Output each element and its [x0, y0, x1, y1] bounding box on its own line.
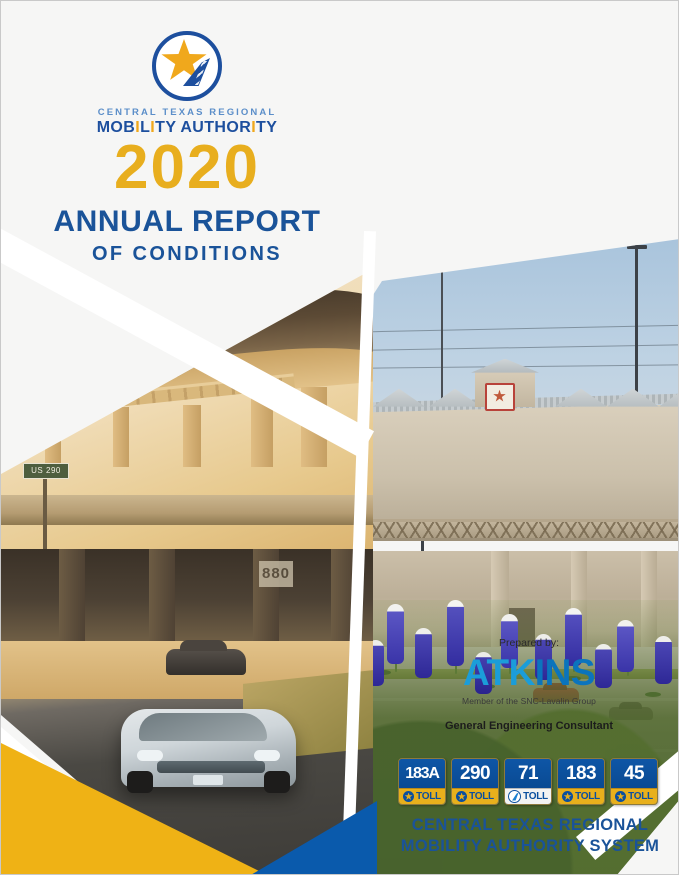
- system-name-line-2: MOBILITY AUTHORITY SYSTEM: [389, 836, 671, 857]
- shield-number: 45: [611, 759, 657, 788]
- headlight: [137, 750, 163, 761]
- shield-toll-band: TOLL: [452, 788, 498, 804]
- plaza-emblem-sign: [485, 383, 515, 411]
- silver-sedan: [121, 709, 296, 787]
- license-plate: [193, 775, 223, 785]
- prepared-by-label: Prepared by:: [389, 637, 669, 649]
- bridge-truss: [373, 519, 679, 541]
- toll-shield-71: 71 TOLL: [504, 758, 552, 805]
- grille: [157, 761, 265, 773]
- atkins-affiliation: Member of the SNC-Lavalin Group: [389, 696, 669, 706]
- toll-plaza-building: [373, 405, 679, 526]
- lower-roadway-deck: [1, 495, 373, 525]
- shield-toll-band: TOLL: [505, 788, 551, 804]
- us-290-road-sign: US 290: [23, 463, 69, 479]
- report-cover-page: US 290 880: [0, 0, 679, 875]
- shield-number: 183: [558, 759, 604, 788]
- shield-toll-band: TOLL: [611, 788, 657, 804]
- star-icon: [456, 791, 467, 802]
- star-icon: [615, 791, 626, 802]
- road-icon: [508, 790, 521, 803]
- toll-label: TOLL: [628, 791, 653, 802]
- utility-pole: [441, 252, 443, 405]
- dark-car: [166, 649, 246, 675]
- atkins-logo: ATKINS: [389, 654, 669, 693]
- prepared-by-block: Prepared by: ATKINS Member of the SNC-La…: [389, 637, 669, 732]
- organization-logo: CENTRAL TEXAS REGIONAL MOBILITY AUTHORIT…: [1, 31, 373, 137]
- star-icon: [562, 791, 573, 802]
- page-title: ANNUAL REPORT: [1, 207, 373, 237]
- headlight: [254, 750, 280, 761]
- toll-label: TOLL: [469, 791, 494, 802]
- consultant-role: General Engineering Consultant: [389, 720, 669, 732]
- shield-number: 183A: [399, 759, 445, 788]
- toll-label: TOLL: [416, 791, 441, 802]
- shield-toll-band: TOLL: [558, 788, 604, 804]
- toll-shield-row: 183A TOLL 290 TOLL 71 TOLL 183 T: [397, 758, 659, 805]
- windshield: [139, 713, 267, 741]
- toll-label: TOLL: [575, 791, 600, 802]
- report-year: 2020: [1, 137, 373, 199]
- system-name-block: CENTRAL TEXAS REGIONAL MOBILITY AUTHORIT…: [389, 815, 671, 856]
- system-name-line-1: CENTRAL TEXAS REGIONAL: [389, 815, 671, 836]
- page-subtitle: OF CONDITIONS: [1, 244, 373, 264]
- cover-title-block: 2020 ANNUAL REPORT OF CONDITIONS: [1, 137, 373, 264]
- shield-number: 290: [452, 759, 498, 788]
- toll-shield-183: 183 TOLL: [557, 758, 605, 805]
- toll-shield-45: 45 TOLL: [610, 758, 658, 805]
- toll-shield-290: 290 TOLL: [451, 758, 499, 805]
- star-icon: [403, 791, 414, 802]
- shield-toll-band: TOLL: [399, 788, 445, 804]
- toll-shield-183a: 183A TOLL: [398, 758, 446, 805]
- toll-label: TOLL: [523, 791, 548, 802]
- logo-line-1: CENTRAL TEXAS REGIONAL: [1, 107, 373, 118]
- overpass-structure: [1, 549, 373, 641]
- star-road-emblem-icon: [152, 31, 222, 101]
- pillar-marker-label: 880: [259, 561, 293, 587]
- shield-number: 71: [505, 759, 551, 788]
